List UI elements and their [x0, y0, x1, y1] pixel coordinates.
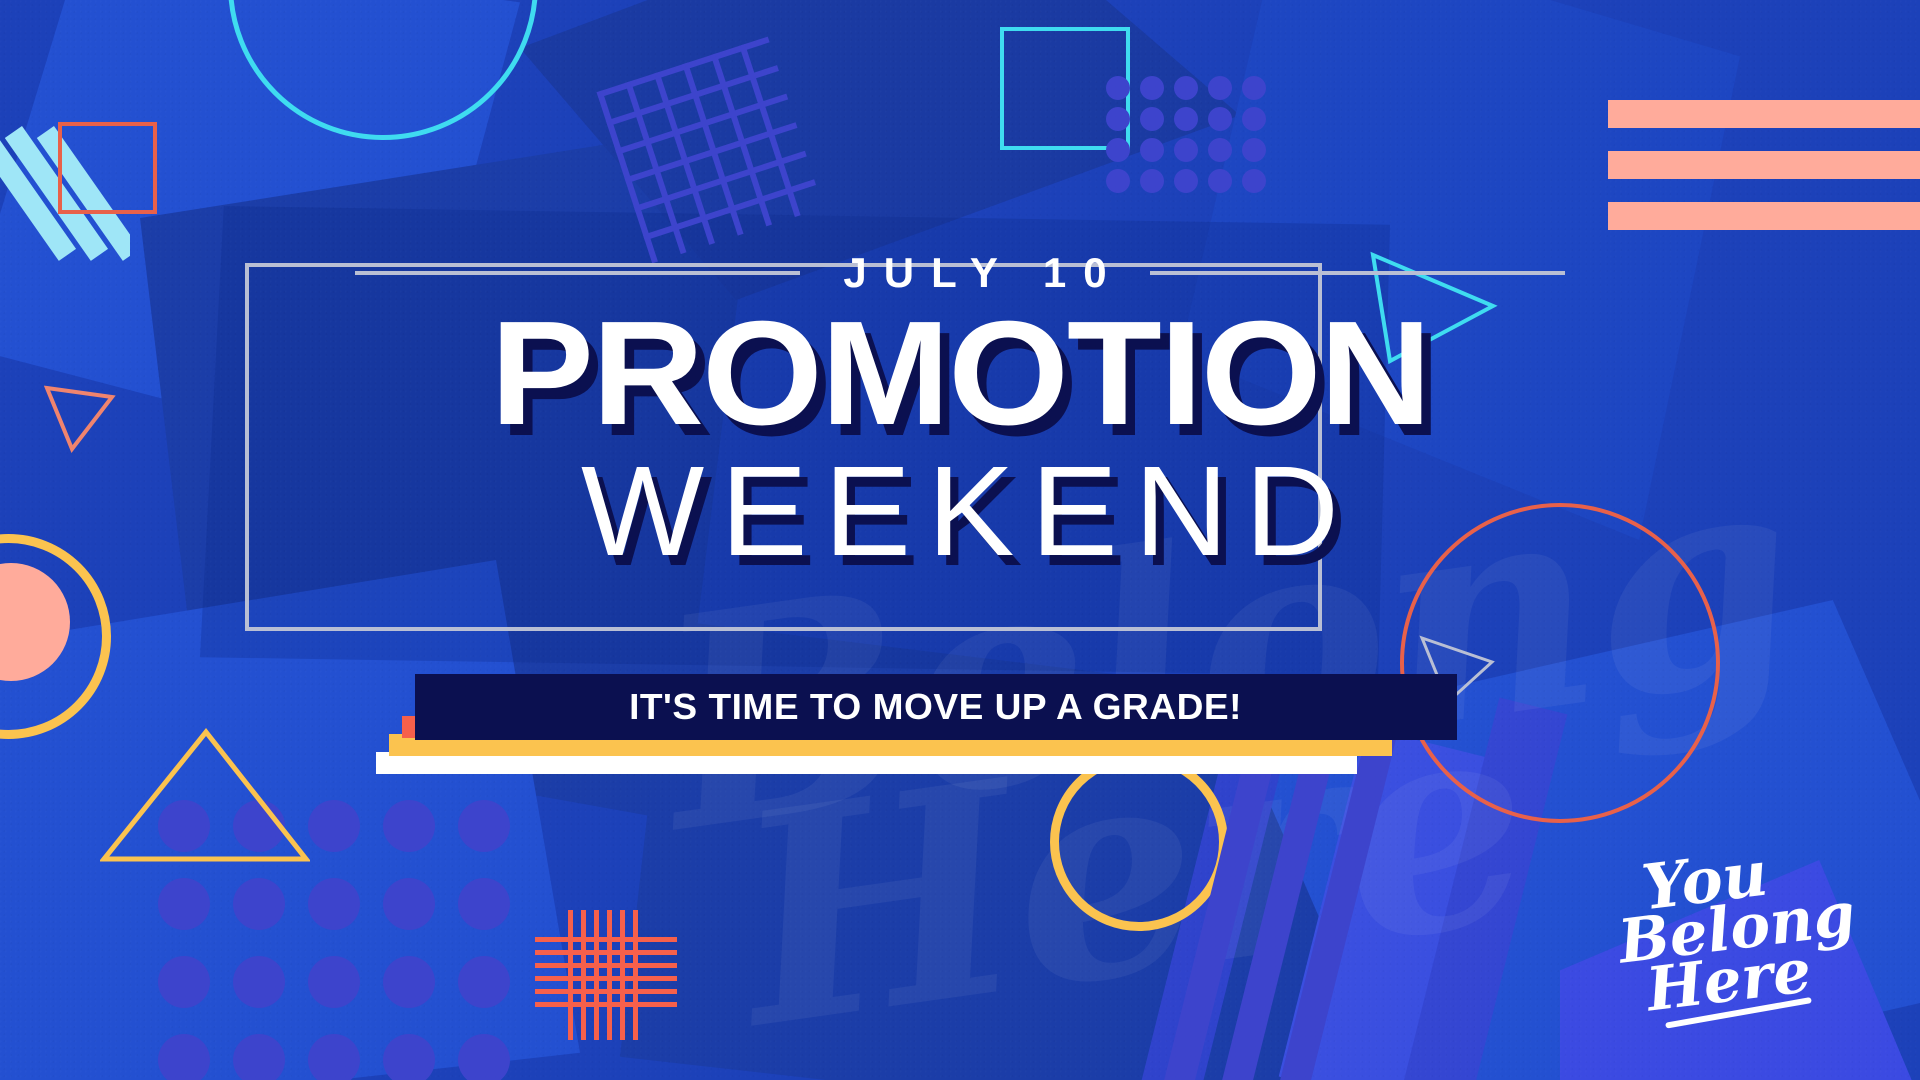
event-date: JULY 10: [826, 252, 1123, 294]
date-rule-right: [1150, 271, 1565, 275]
banner-text: IT'S TIME TO MOVE UP A GRADE!: [630, 686, 1243, 728]
yellow-triangle-outline-icon: [100, 728, 310, 863]
page-title: PROMOTION: [0, 300, 1920, 448]
brand-logo: You Belong Here: [1605, 833, 1876, 1052]
date-row: JULY 10: [0, 252, 1920, 294]
coral-crosshatch-grid-icon: [568, 910, 710, 1040]
page-subtitle: WEEKEND: [0, 448, 1920, 576]
banner-box: IT'S TIME TO MOVE UP A GRADE!: [415, 674, 1457, 740]
poster-canvas: Belong Here: [0, 0, 1920, 1080]
violet-dot-grid-top-right-icon: [1106, 76, 1276, 200]
coral-square-outline-icon: [58, 122, 157, 214]
salmon-horizontal-bars-icon: [1608, 100, 1920, 230]
date-rule-left: [355, 271, 800, 275]
yellow-circle-outline-bottom-icon: [1050, 753, 1228, 931]
